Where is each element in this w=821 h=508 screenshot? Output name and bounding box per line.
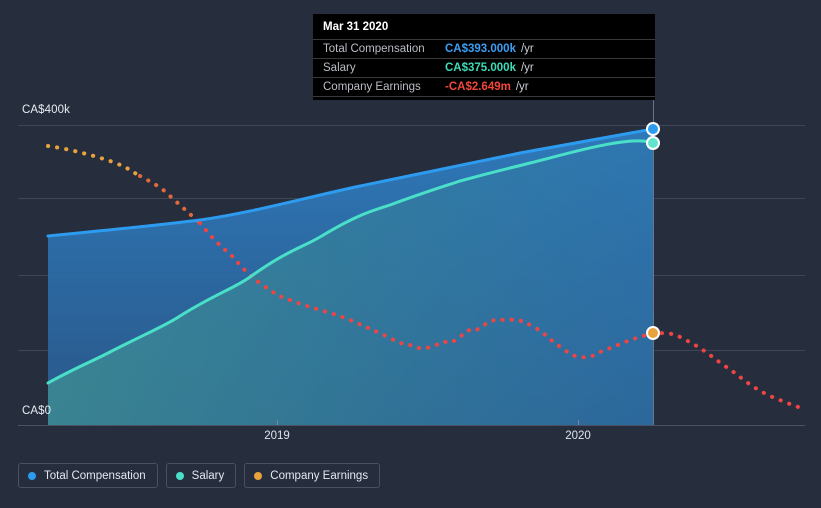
y-axis-max-label: CA$400k xyxy=(22,104,70,116)
tooltip-unit-total-compensation: /yr xyxy=(521,43,534,55)
tooltip-value-total-compensation: CA$393.000k xyxy=(445,43,516,55)
chart-legend: Total Compensation Salary Company Earnin… xyxy=(18,463,380,488)
compensation-chart-widget: CA$400k CA$0 2019 2020 Mar 31 2020 Total… xyxy=(0,0,821,508)
tooltip-value-company-earnings: -CA$2.649m xyxy=(445,81,511,93)
tooltip-label-total-compensation: Total Compensation xyxy=(323,43,445,55)
x-axis-label-2019: 2019 xyxy=(264,430,290,442)
legend-item-total-compensation[interactable]: Total Compensation xyxy=(18,463,158,488)
tooltip-row-salary: Salary CA$375.000k /yr xyxy=(313,58,655,77)
tooltip-title: Mar 31 2020 xyxy=(313,21,655,39)
legend-label-salary: Salary xyxy=(192,470,225,482)
legend-dot-icon-salary xyxy=(176,472,184,480)
legend-dot-icon-company-earnings xyxy=(254,472,262,480)
tooltip-label-salary: Salary xyxy=(323,62,445,74)
y-axis-min-label: CA$0 xyxy=(22,405,51,417)
marker-total-compensation[interactable] xyxy=(647,123,659,135)
x-axis-label-2020: 2020 xyxy=(565,430,591,442)
tooltip-unit-salary: /yr xyxy=(521,62,534,74)
legend-label-total-compensation: Total Compensation xyxy=(44,470,146,482)
legend-dot-icon-total-compensation xyxy=(28,472,36,480)
legend-label-company-earnings: Company Earnings xyxy=(270,470,368,482)
chart-tooltip: Mar 31 2020 Total Compensation CA$393.00… xyxy=(313,14,655,100)
legend-item-salary[interactable]: Salary xyxy=(166,463,237,488)
legend-item-company-earnings[interactable]: Company Earnings xyxy=(244,463,380,488)
tooltip-label-company-earnings: Company Earnings xyxy=(323,81,445,93)
tooltip-row-total-compensation: Total Compensation CA$393.000k /yr xyxy=(313,39,655,58)
tooltip-value-salary: CA$375.000k xyxy=(445,62,516,74)
tooltip-unit-company-earnings: /yr xyxy=(516,81,529,93)
marker-company-earnings[interactable] xyxy=(647,327,659,339)
tooltip-row-company-earnings: Company Earnings -CA$2.649m /yr xyxy=(313,77,655,97)
marker-salary[interactable] xyxy=(647,137,659,149)
